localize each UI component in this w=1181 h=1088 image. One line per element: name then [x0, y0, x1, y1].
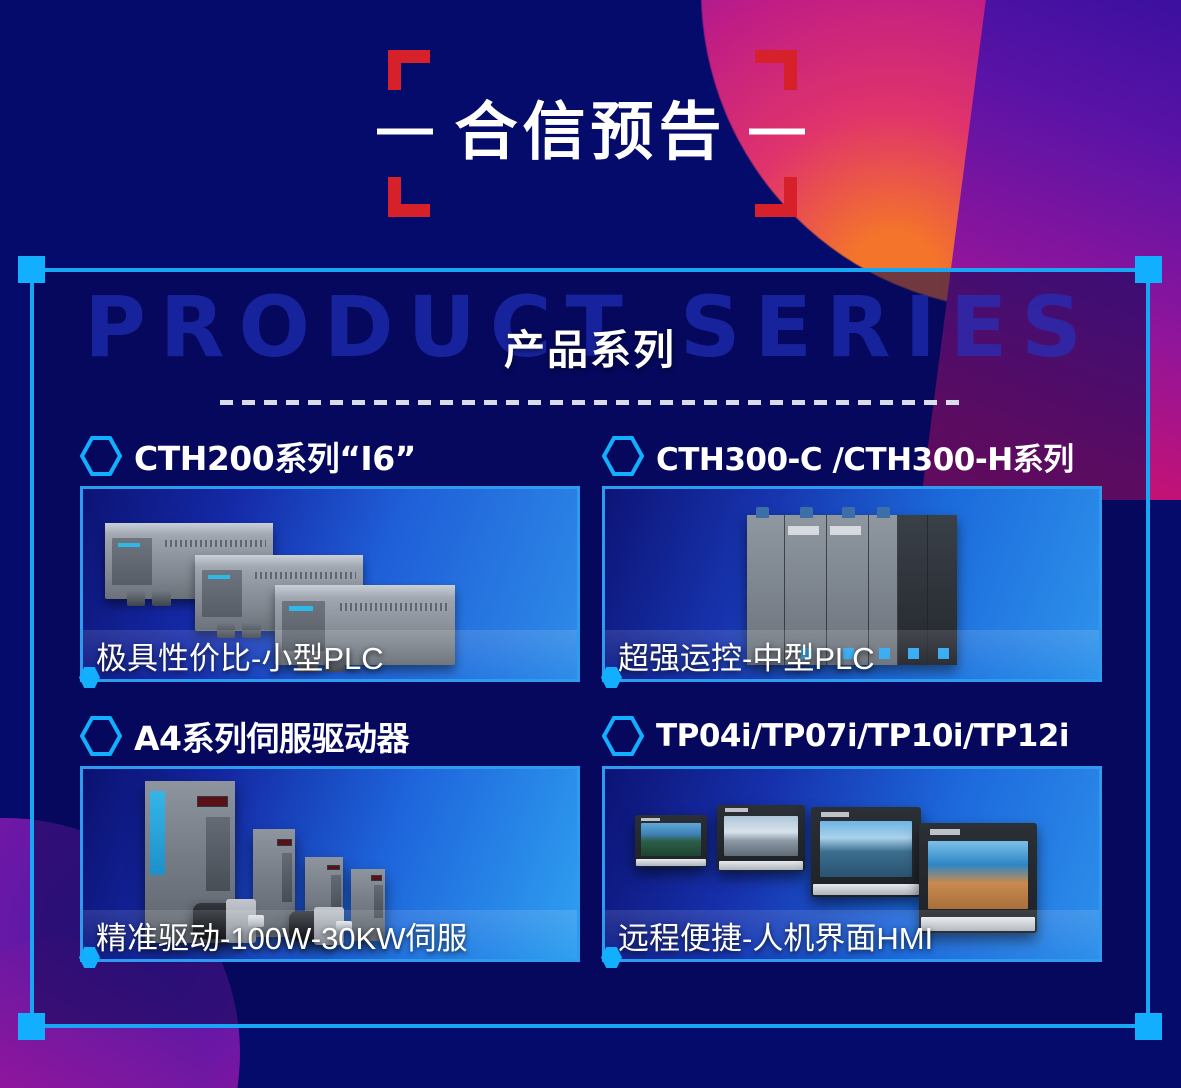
- promo-poster: 合信预告 PRODUCT SERIES 产品系列: [0, 0, 1181, 1088]
- product-card-cth300[interactable]: CTH300-C /CTH300-H系列: [602, 432, 1102, 682]
- hexagon-icon: [602, 436, 644, 476]
- card-title: A4系列伺服驱动器: [134, 712, 409, 760]
- section-heading: PRODUCT SERIES 产品系列: [34, 272, 1146, 420]
- section-divider: [220, 400, 960, 405]
- card-header: A4系列伺服驱动器: [80, 712, 580, 760]
- hexagon-icon: [602, 716, 644, 756]
- page-title: 合信预告: [455, 100, 727, 163]
- card-caption: 远程便捷-人机界面HMI: [618, 913, 933, 958]
- title-dash-left: [377, 129, 433, 135]
- title-dash-right: [749, 129, 805, 135]
- product-card-hmi[interactable]: TP04i/TP07i/TP10i/TP12i: [602, 712, 1102, 962]
- corner-bracket-bottom-right: [755, 177, 797, 217]
- section-title: 产品系列: [34, 316, 1146, 376]
- hexagon-icon: [80, 436, 122, 476]
- corner-bracket-top-right: [755, 50, 797, 90]
- poster-header: 合信预告: [0, 34, 1181, 229]
- frame-node-bottom-left: [18, 1013, 45, 1040]
- product-card-cth200[interactable]: CTH200系列“I6”: [80, 432, 580, 682]
- product-grid: CTH200系列“I6”: [80, 432, 1102, 962]
- card-header: CTH300-C /CTH300-H系列: [602, 432, 1102, 480]
- card-header: TP04i/TP07i/TP10i/TP12i: [602, 712, 1102, 760]
- card-header: CTH200系列“I6”: [80, 432, 580, 480]
- card-title: CTH200系列“I6”: [134, 432, 416, 480]
- frame-node-bottom-right: [1135, 1013, 1162, 1040]
- corner-bracket-top-left: [388, 50, 430, 90]
- card-title: TP04i/TP07i/TP10i/TP12i: [656, 718, 1069, 754]
- card-title: CTH300-C /CTH300-H系列: [656, 434, 1074, 479]
- product-card-a4-servo[interactable]: A4系列伺服驱动器: [80, 712, 580, 962]
- card-caption: 极具性价比-小型PLC: [96, 633, 384, 678]
- hexagon-icon: [80, 716, 122, 756]
- content-frame: PRODUCT SERIES 产品系列 CTH200系列“I6”: [30, 268, 1150, 1028]
- title-row: 合信预告: [286, 100, 896, 163]
- card-caption: 精准驱动-100W-30KW伺服: [96, 913, 468, 958]
- card-caption: 超强运控-中型PLC: [618, 633, 875, 678]
- corner-bracket-bottom-left: [388, 177, 430, 217]
